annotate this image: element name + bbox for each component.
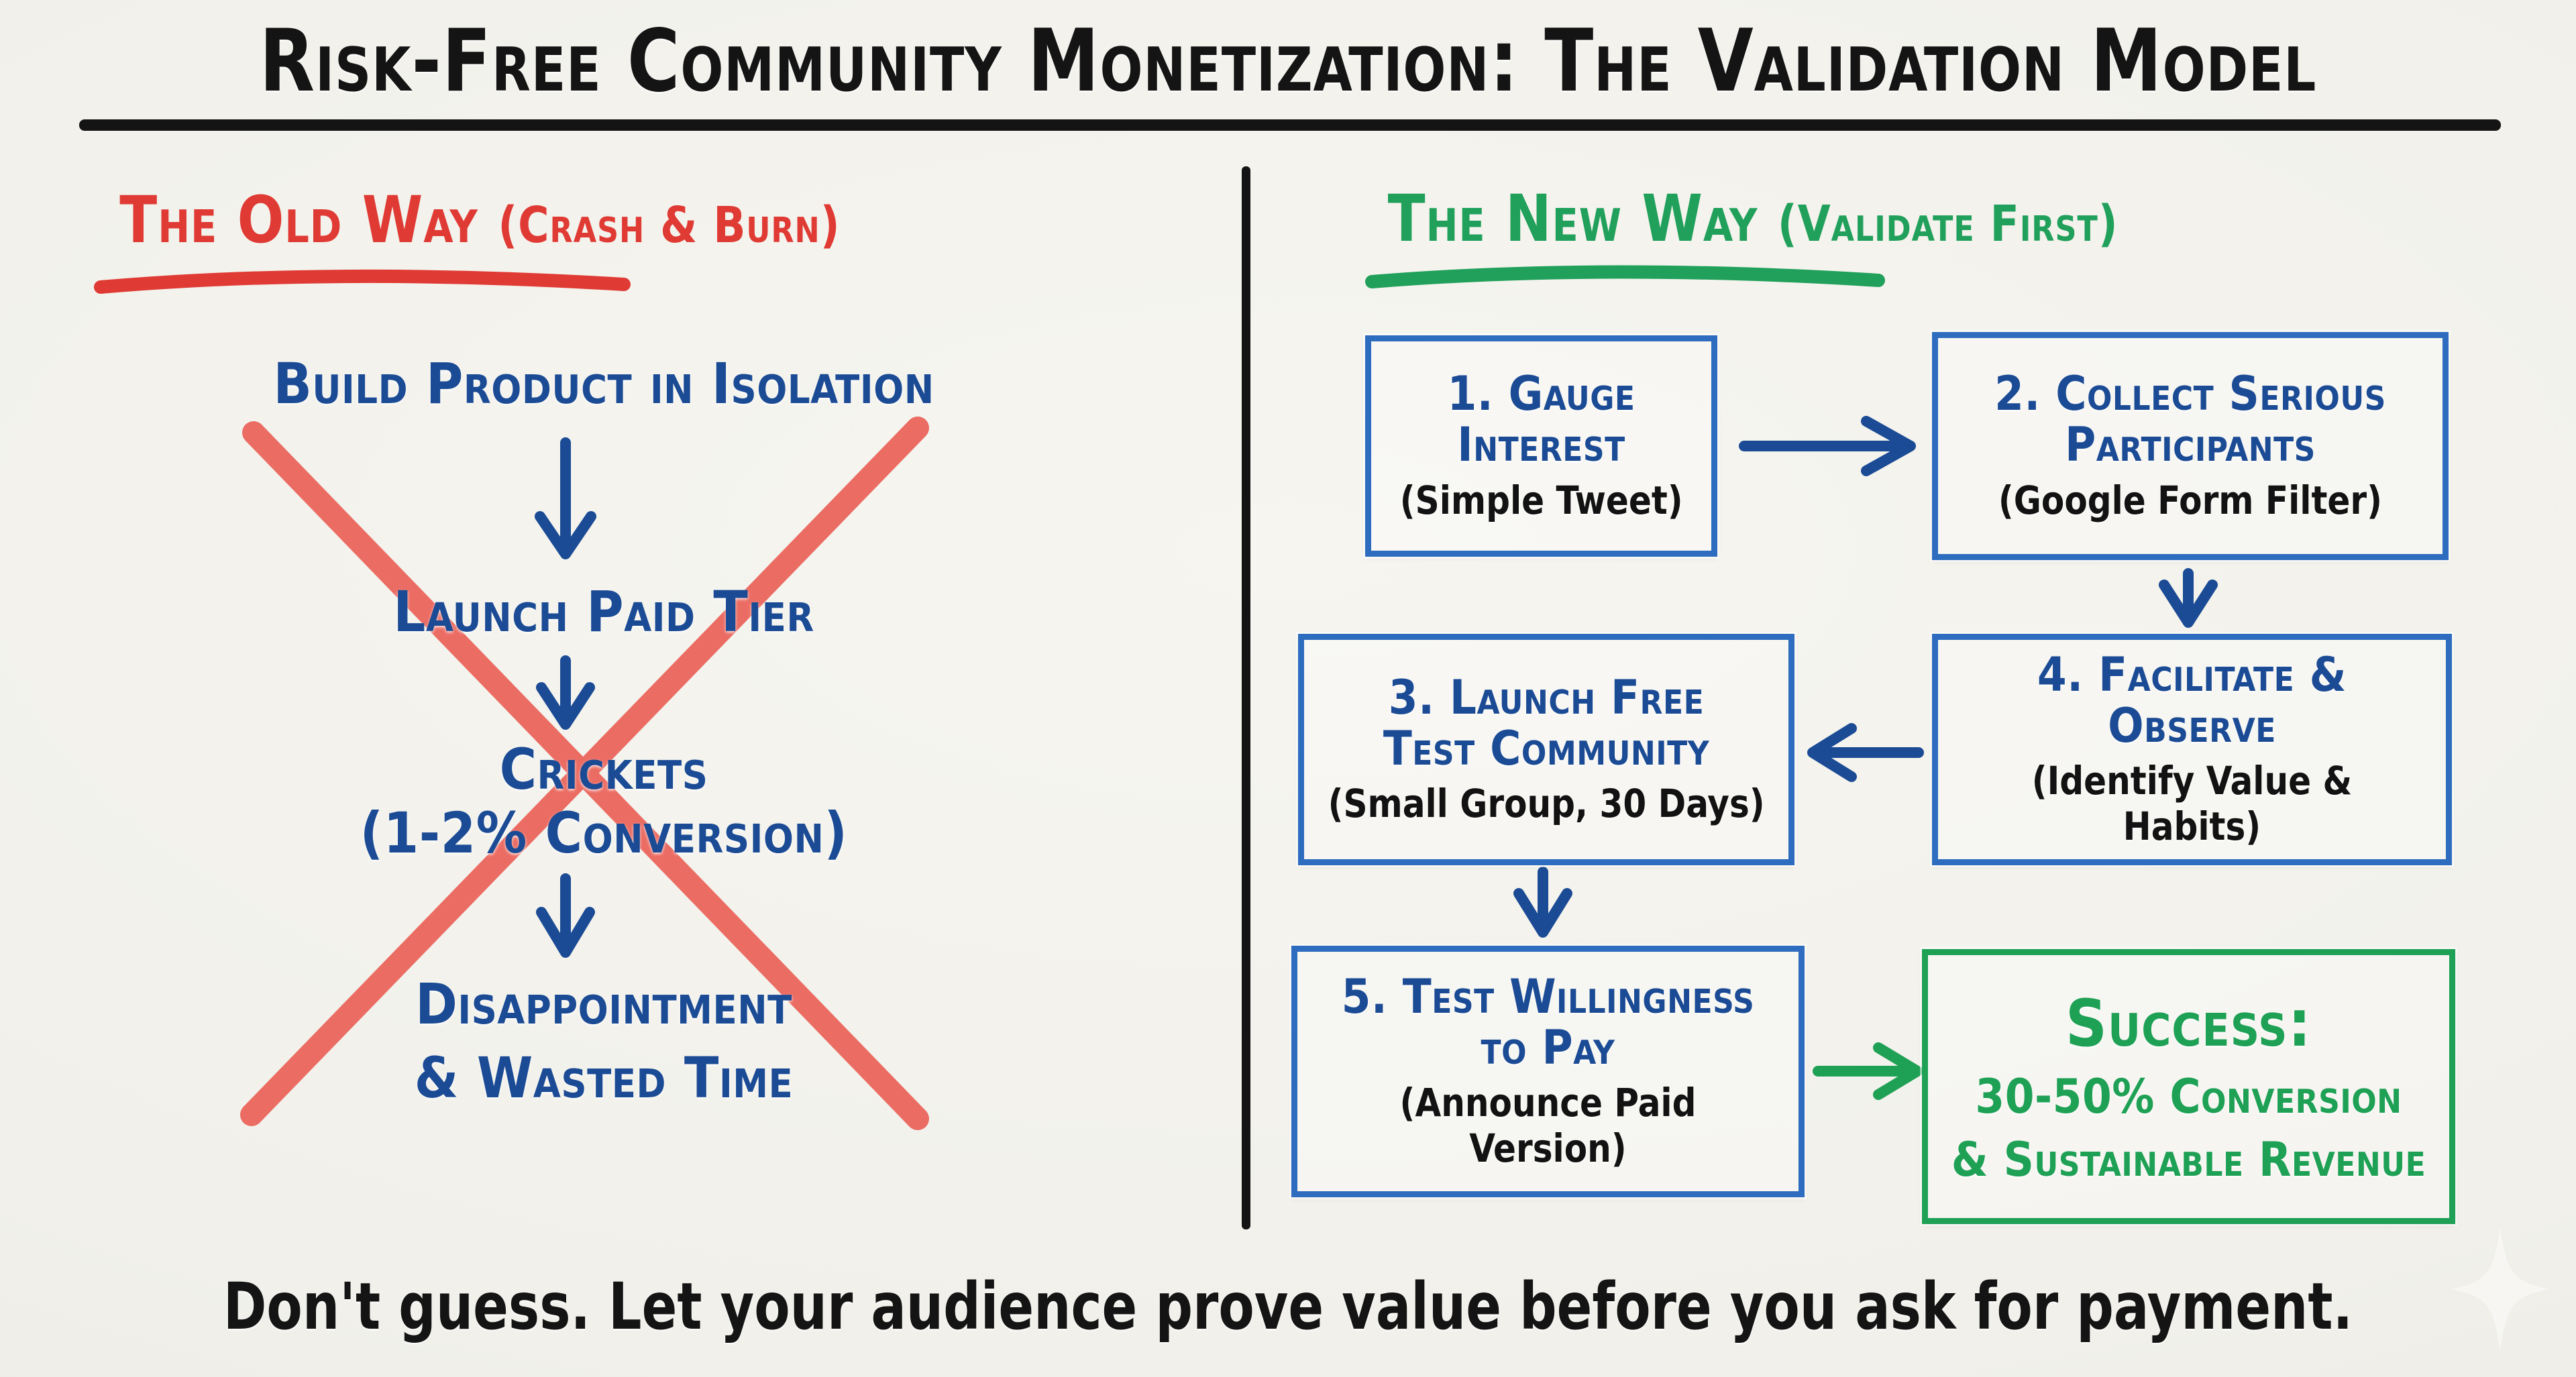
success-line-1: 30-50% Conversion [1975,1069,2402,1124]
old-step-4-detail: & Wasted Time [0,1050,1207,1106]
success-outcome-box[interactable]: Success: 30-50% Conversion & Sustainable… [1922,949,2455,1224]
step-box-5-subtitle: (Announce Paid Version) [1316,1080,1779,1171]
step-box-3-subtitle: (Small Group, 30 Days) [1328,781,1764,826]
old-step-3-detail: (1-2% Conversion) [0,805,1207,861]
old-step-3: Crickets [0,741,1207,797]
step-box-1-line2: Interest [1457,420,1625,471]
step-box-1-line1: 1. Gauge [1447,369,1635,420]
step-box-2-subtitle: (Google Form Filter) [1998,478,2382,523]
old-way-heading: The Old Way (Crash & Burn) [119,188,840,252]
step-box-4-subtitle: (Identify Value & Habits) [1957,758,2427,849]
step-box-2-collect-serious-participants[interactable]: 2. Collect Serious Participants (Google … [1932,332,2449,560]
step-box-4-line2: Observe [2108,701,2276,752]
step-box-5-test-willingness-to-pay[interactable]: 5. Test Willingness to Pay (Announce Pai… [1291,946,1805,1197]
step-box-3-line1: 3. Launch Free [1389,673,1704,724]
footer-caption: Don't guess. Let your audience prove val… [129,1274,2447,1339]
step-box-5-line1: 5. Test Willingness [1342,972,1755,1023]
old-step-2: Launch Paid Tier [0,584,1207,640]
success-title: Success: [2065,986,2312,1061]
step-box-1-gauge-interest[interactable]: 1. Gauge Interest (Simple Tweet) [1365,335,1717,557]
success-line-2: & Sustainable Revenue [1951,1132,2426,1187]
old-way-heading-paren: (Crash & Burn) [498,197,840,254]
step-box-2-line2: Participants [2065,420,2316,471]
new-way-heading: The New Way (Validate First) [1388,186,2118,251]
step-box-4-facilitate-and-observe[interactable]: 4. Facilitate & Observe (Identify Value … [1932,634,2452,865]
old-way-heading-main: The Old Way [119,182,478,258]
page-title: Risk-Free Community Monetization: The Va… [90,19,2485,105]
old-step-4: Disappointment [0,976,1207,1032]
step-box-3-line2: Test Community [1383,724,1709,775]
step-box-1-subtitle: (Simple Tweet) [1400,478,1683,523]
step-box-5-line2: to Pay [1481,1023,1615,1074]
new-way-heading-main: The New Way [1388,181,1758,256]
step-box-2-line1: 2. Collect Serious [1994,369,2386,420]
old-step-1: Build Product in Isolation [0,355,1207,412]
new-way-heading-paren: (Validate First) [1778,195,2118,253]
step-box-3-launch-free-test-community[interactable]: 3. Launch Free Test Community (Small Gro… [1298,634,1794,865]
step-box-4-line1: 4. Facilitate & [2037,650,2347,701]
